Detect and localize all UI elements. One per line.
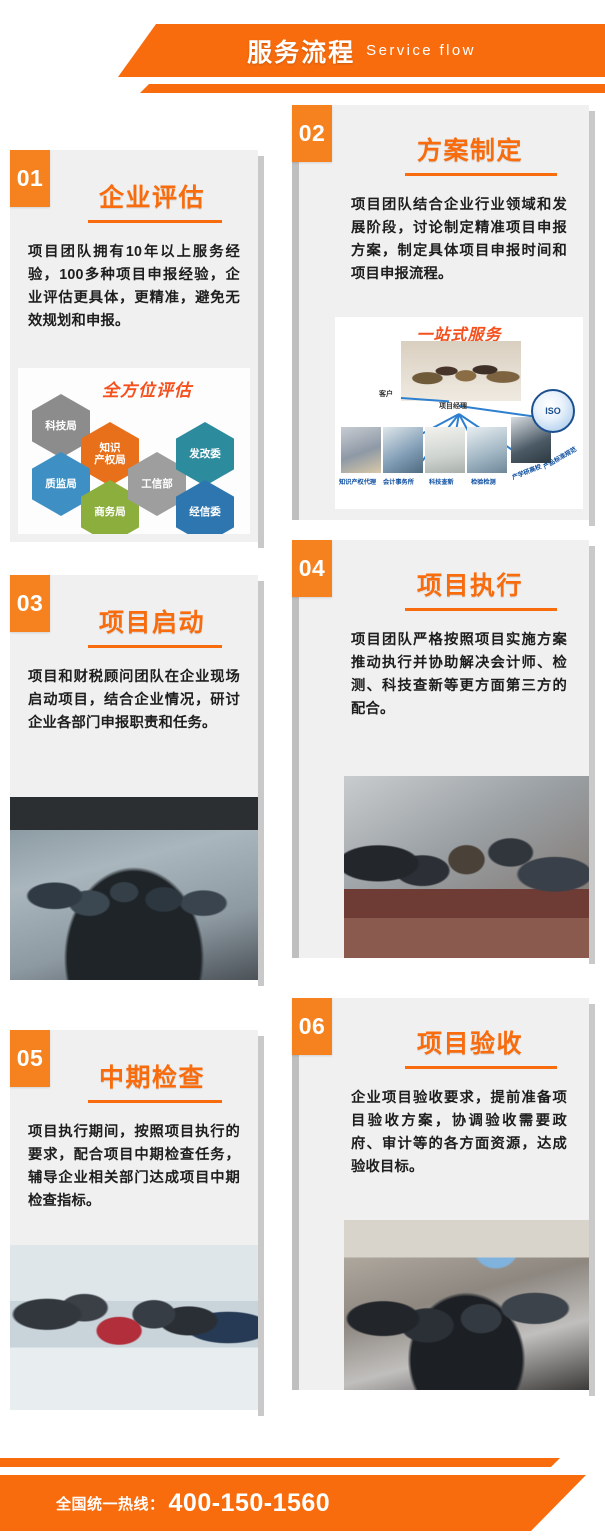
card-photo-06 bbox=[344, 1220, 589, 1390]
step-badge-05: 05 bbox=[10, 1030, 50, 1087]
card-body-06: 企业项目验收要求，提前准备项目验收方案，协调验收需要政府、审计等的各方面资源，达… bbox=[351, 1087, 567, 1180]
onestop-label-manager: 项目经理 bbox=[439, 401, 467, 411]
title-underline-06 bbox=[405, 1066, 557, 1069]
footer-accent-stripe bbox=[0, 1458, 560, 1467]
header-accent-stripe bbox=[140, 84, 605, 93]
title-underline-03 bbox=[88, 645, 222, 648]
footer-hotline-number[interactable]: 400-150-1560 bbox=[169, 1489, 331, 1518]
card-body-03: 项目和财税顾问团队在企业现场启动项目，结合企业情况，研讨企业各部门申报职责和任务… bbox=[28, 666, 240, 735]
footer-hotline-label: 全国统一热线： bbox=[56, 1493, 165, 1514]
card-body-01: 项目团队拥有10年以上服务经验，100多种项目申报经验，企业评估更具体，更精准，… bbox=[28, 241, 240, 334]
onestop-branch-label-5: 产学研高校 bbox=[510, 462, 542, 482]
photo-meeting-room-startup bbox=[10, 797, 258, 980]
onestop-diagram-02: 一站式服务 客户 项目经理 ISO 知识产权代理 会计事务 bbox=[335, 317, 583, 509]
hex-diagram-title: 全方位评估 bbox=[102, 376, 192, 401]
step-badge-01: 01 bbox=[10, 150, 50, 207]
onestop-branch-photo-4 bbox=[467, 427, 507, 473]
onestop-branch-label-4: 检验检测 bbox=[471, 477, 496, 486]
photo-project-execution-meeting bbox=[344, 776, 589, 958]
card-body-05: 项目执行期间，按照项目执行的要求，配合项目中期检查任务，辅导企业相关部门达成项目… bbox=[28, 1121, 240, 1214]
onestop-branch-photo-1 bbox=[341, 427, 381, 473]
step-card-05[interactable]: 中期检查 项目执行期间，按照项目执行的要求，配合项目中期检查任务，辅导企业相关部… bbox=[10, 1030, 258, 1410]
step-card-03[interactable]: 项目启动 项目和财税顾问团队在企业现场启动项目，结合企业情况，研讨企业各部门申报… bbox=[10, 575, 258, 980]
card-body-04: 项目团队严格按照项目实施方案推动执行并协助解决会计师、检测、科技查新等更方面第三… bbox=[351, 629, 567, 722]
card-photo-04 bbox=[344, 776, 589, 958]
photo-showroom-inspection bbox=[10, 1245, 258, 1410]
onestop-branch-photo-2 bbox=[383, 427, 423, 473]
card-photo-05 bbox=[10, 1245, 258, 1410]
card-title-02: 方案制定 bbox=[351, 131, 589, 167]
title-underline-01 bbox=[88, 220, 222, 223]
card-title-04: 项目执行 bbox=[351, 566, 589, 602]
onestop-branch-label-2: 会计事务所 bbox=[383, 477, 414, 486]
page-header: 服务流程 Service flow bbox=[0, 0, 605, 105]
step-card-02[interactable]: 方案制定 项目团队结合企业行业领域和发展阶段，讨论制定精准项目申报方案，制定具体… bbox=[292, 105, 589, 520]
onestop-branch-photo-3 bbox=[425, 427, 465, 473]
footer-hotline-group: 全国统一热线： 400-150-1560 bbox=[56, 1475, 330, 1531]
onestop-center-photo bbox=[401, 341, 521, 401]
page-footer: 全国统一热线： 400-150-1560 bbox=[0, 1420, 605, 1538]
step-card-04[interactable]: 项目执行 项目团队严格按照项目实施方案推动执行并协助解决会计师、检测、科技查新等… bbox=[292, 540, 589, 958]
step-badge-06: 06 bbox=[292, 998, 332, 1055]
card-title-01: 企业评估 bbox=[46, 178, 258, 214]
onestop-label-customer: 客户 bbox=[379, 389, 393, 399]
card-title-05: 中期检查 bbox=[46, 1058, 258, 1094]
page-subtitle: Service flow bbox=[366, 42, 476, 59]
onestop-certification-seal: ISO bbox=[531, 389, 575, 433]
step-badge-02: 02 bbox=[292, 105, 332, 162]
step-card-06[interactable]: 项目验收 企业项目验收要求，提前准备项目验收方案，协调验收需要政府、审计等的各方… bbox=[292, 998, 589, 1390]
card-body-02: 项目团队结合企业行业领域和发展阶段，讨论制定精准项目申报方案，制定具体项目申报时… bbox=[351, 194, 567, 287]
step-badge-03: 03 bbox=[10, 575, 50, 632]
onestop-branch-label-1: 知识产权代理 bbox=[339, 477, 376, 486]
title-underline-04 bbox=[405, 608, 557, 611]
page-title: 服务流程 bbox=[247, 33, 355, 69]
hex-diagram-01: 全方位评估 科技局 知识 产权局 质监局 商务局 工信部 发改委 经信委 bbox=[18, 368, 250, 534]
step-badge-04: 04 bbox=[292, 540, 332, 597]
title-underline-02 bbox=[405, 173, 557, 176]
title-underline-05 bbox=[88, 1100, 222, 1103]
step-card-01[interactable]: 企业评估 项目团队拥有10年以上服务经验，100多种项目申报经验，企业评估更具体… bbox=[10, 150, 258, 542]
card-title-06: 项目验收 bbox=[351, 1024, 589, 1060]
onestop-branch-label-3: 科技查新 bbox=[429, 477, 454, 486]
card-photo-03 bbox=[10, 797, 258, 980]
card-title-03: 项目启动 bbox=[46, 603, 258, 639]
photo-acceptance-conference bbox=[344, 1220, 589, 1390]
header-title-group: 服务流程 Service flow bbox=[118, 24, 605, 77]
